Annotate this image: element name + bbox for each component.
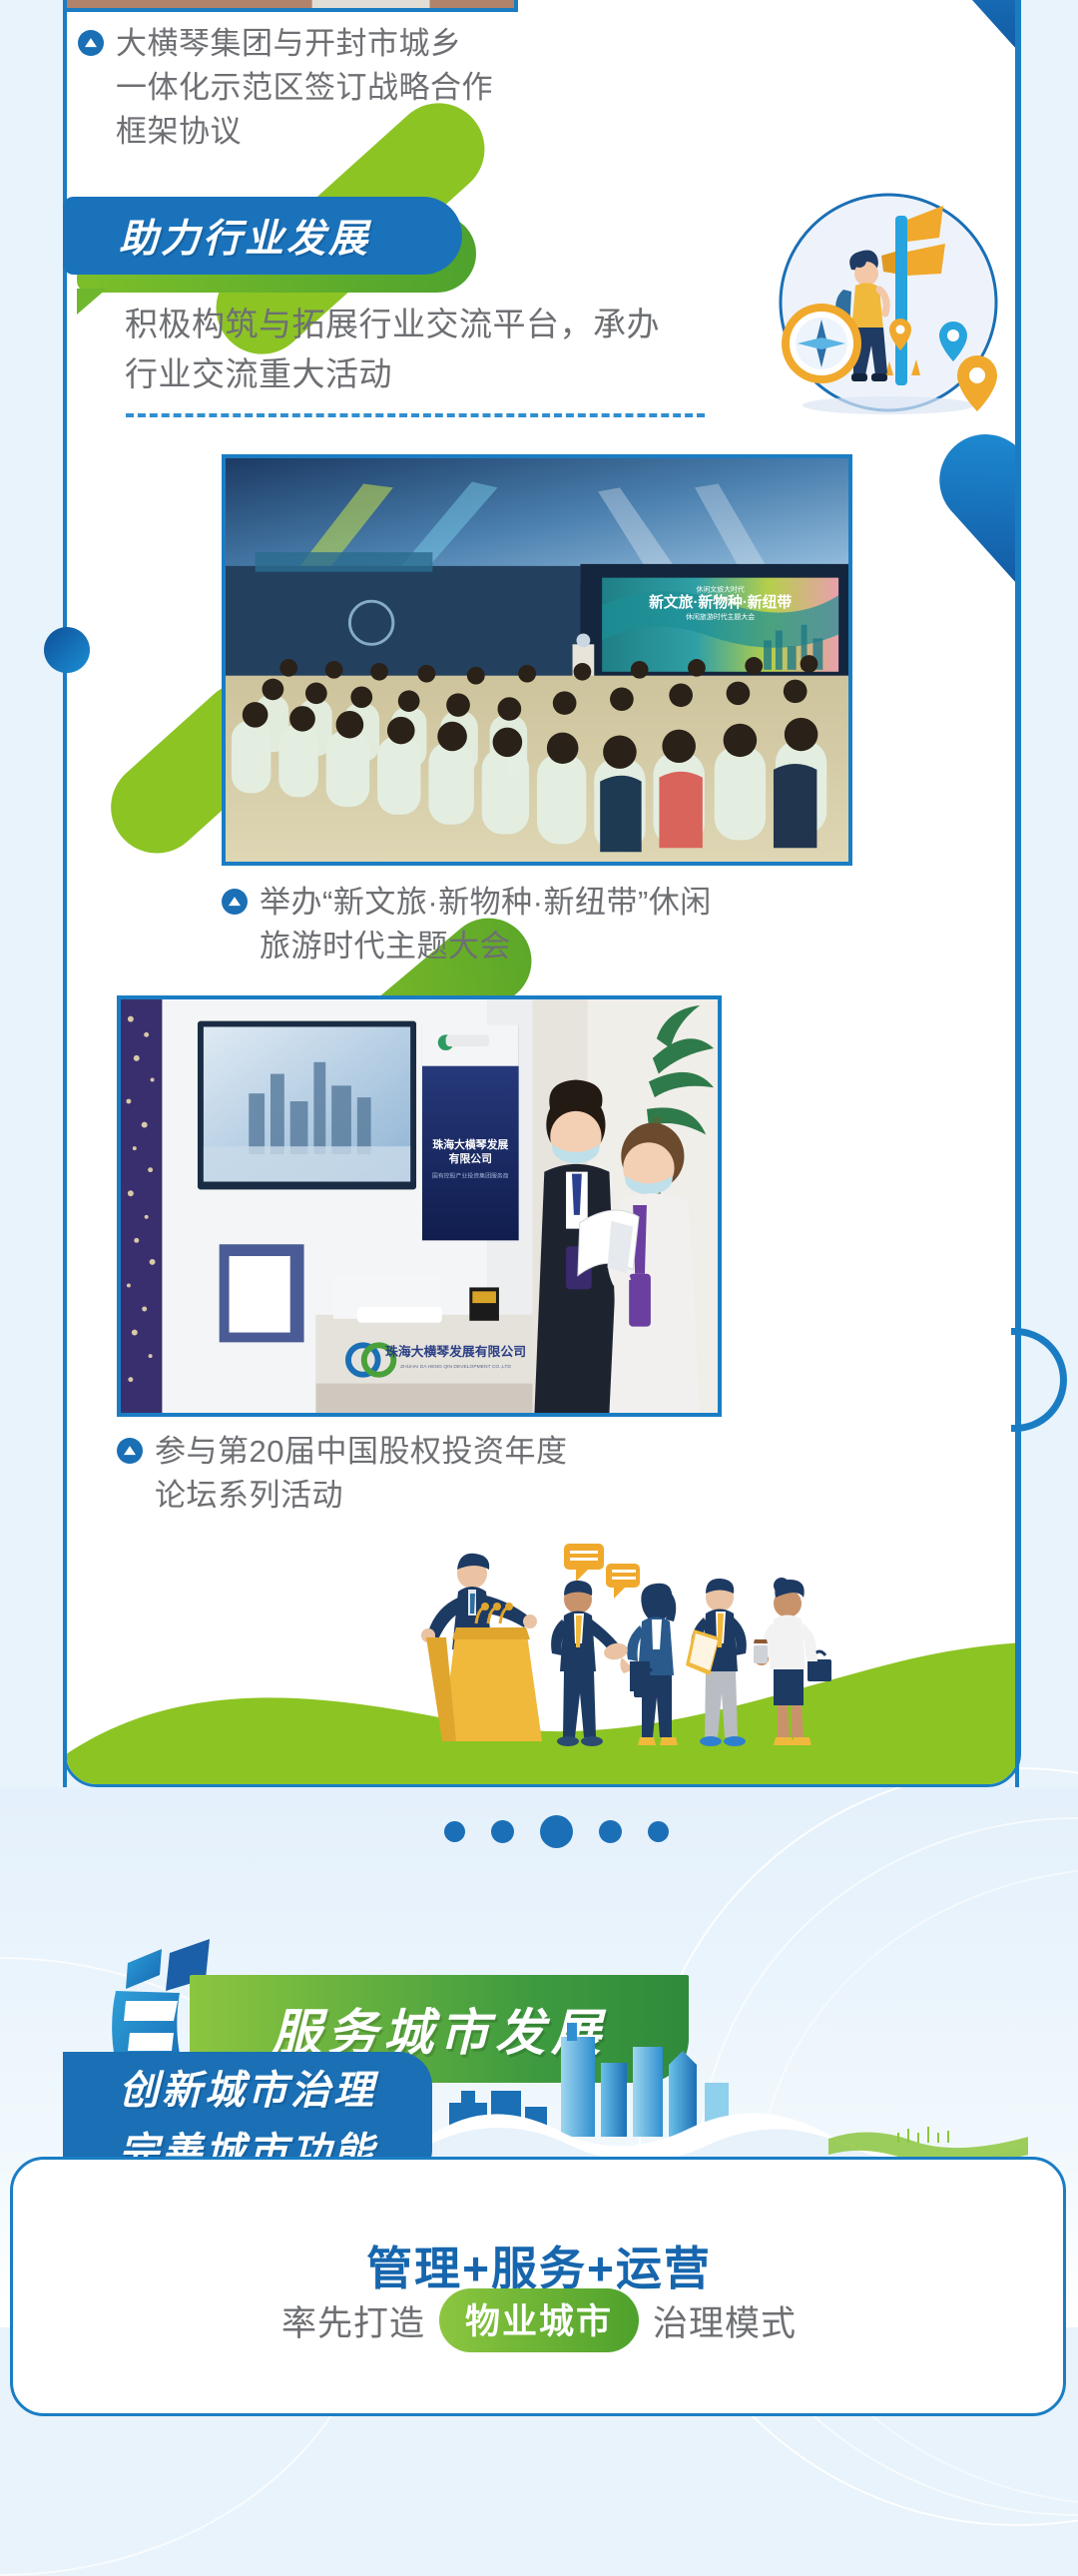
svg-text:ZHUHAI DA HENG QIN DEVELOPMENT: ZHUHAI DA HENG QIN DEVELOPMENT CO.,LTD [400,1364,511,1370]
exhibition-booth-photo: 珠海大横琴发展 有限公司 国有控股产业投资集团服务商 珠海大横琴发展有限公司 Z… [117,995,722,1417]
drop-marker-icon [117,1438,143,1464]
dot-3 [540,1815,573,1848]
svg-text:有限公司: 有限公司 [449,1151,492,1165]
dots-separator [444,1815,669,1848]
timeline-node-dot [44,627,90,673]
caption-partnership-line1: 大横琴集团与开封市城乡 [116,22,493,66]
signing-ceremony-photo [63,0,518,12]
section-title-industry-label: 助力行业发展 [119,208,370,264]
svg-text:珠海大横琴发展有限公司: 珠海大横琴发展有限公司 [385,1344,526,1359]
paragraph-industry-line2: 行业交流重大活动 [125,349,784,399]
tagline-suffix: 治理模式 [653,2295,797,2346]
drop-marker-icon [78,30,104,56]
caption-conference-line2: 旅游时代主题大会 [260,925,712,968]
caption-conference-line1: 举办“新文旅·新物种·新纽带”休闲 [260,881,712,925]
svg-text:国有控股产业投资集团服务商: 国有控股产业投资集团服务商 [432,1172,509,1180]
paragraph-industry-line1: 积极构筑与拓展行业交流平台，承办 [125,300,784,349]
caption-forum-line1: 参与第20届中国股权投资年度 [155,1430,567,1474]
svg-text:休闲旅游时代主题大会: 休闲旅游时代主题大会 [686,612,755,621]
tagline-prefix: 率先打造 [281,2295,425,2346]
section-title-industry: 助力行业发展 [63,197,462,275]
caption-partnership-line3: 框架协议 [116,110,493,154]
dot-2 [491,1820,514,1843]
conference-hall-photo: 新文旅·新物种·新纽带 休闲文旅大时代 休闲旅游时代主题大会 [222,454,852,866]
dot-1 [444,1821,465,1842]
svg-text:休闲文旅大时代: 休闲文旅大时代 [696,584,744,593]
decor-capsule-blue-1 [920,0,1021,147]
svg-text:新文旅·新物种·新纽带: 新文旅·新物种·新纽带 [649,593,792,611]
tagline-badge: 物业城市 [439,2288,639,2352]
dot-5 [648,1821,669,1842]
decor-capsule-blue-2 [920,415,1021,681]
sub-banner-line1: 创新城市治理 [119,2058,376,2116]
dashed-divider [126,413,705,417]
svg-text:珠海大横琴发展: 珠海大横琴发展 [432,1137,508,1151]
dot-4 [599,1820,622,1843]
pill-body-blue: 助力行业发展 [63,197,462,275]
paragraph-industry: 积极构筑与拓展行业交流平台，承办 行业交流重大活动 [125,300,784,398]
caption-forum: 参与第20届中国股权投资年度 论坛系列活动 [117,1430,736,1518]
traveler-signpost-compass-illustration [744,178,1023,427]
tagline-property-city: 率先打造 物业城市 治理模式 [0,2288,1078,2352]
business-conference-people-illustration [384,1520,843,1769]
pill-corner-flag [77,289,107,315]
caption-partnership-line2: 一体化示范区签订战略合作 [116,66,493,110]
drop-marker-icon [222,889,248,915]
infographic-page: 大横琴集团与开封市城乡 一体化示范区签订战略合作 框架协议 助力行业发展 [0,0,1078,2327]
caption-conference: 举办“新文旅·新物种·新纽带”休闲 旅游时代主题大会 [222,881,860,968]
caption-forum-line2: 论坛系列活动 [155,1474,567,1518]
caption-partnership: 大横琴集团与开封市城乡 一体化示范区签订战略合作 框架协议 [78,22,637,154]
